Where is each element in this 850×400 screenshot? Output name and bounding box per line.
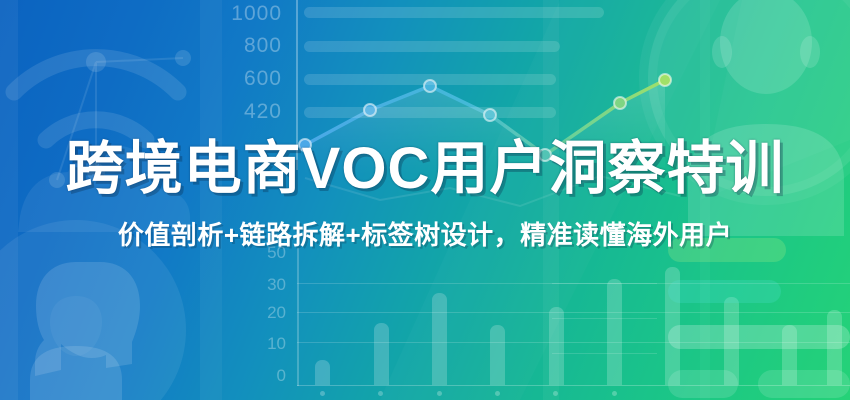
pill-item [668,325,850,349]
bar-chart-gridline [297,342,850,343]
top-chart-tick-600: 600 [212,67,282,91]
bar-chart-bar [374,323,389,385]
bar-chart-baseline [297,385,850,386]
bar-chart-tick-10: 10 [226,334,286,354]
bar-chart-y-axis [297,248,299,386]
banner-headline: 跨境电商VOC用户洞察特训 [0,138,850,201]
bar-chart-tick-30: 30 [226,275,286,295]
mini-chart-gridline [552,283,657,284]
top-chart-rail [304,7,604,18]
bar-chart-tick-20: 20 [226,303,286,323]
bar-chart-bar [607,279,622,385]
bar-chart-x-dot [612,391,617,396]
user-avatar-female-icon [30,262,140,400]
top-chart-rail [304,41,560,52]
wifi-signal-icon [14,58,178,140]
bar-chart-bar [827,310,842,385]
bar-chart-gridline [297,312,850,313]
bar-chart-bar [549,307,564,385]
promo-banner: 1000 800 600 420 [0,0,850,400]
bar-chart-tick-0: 0 [226,366,286,386]
bar-chart-bar [665,267,680,385]
mini-chart-gridline [552,318,657,319]
bar-chart-bar [782,325,797,385]
bar-chart-x-dot [320,391,325,396]
bar-chart-x-dot [495,391,500,396]
top-chart-rail [304,74,556,85]
banner-text-block: 跨境电商VOC用户洞察特训 价值剖析+链路拆解+标签树设计，精准读懂海外用户 [0,138,850,252]
pill-item [668,370,738,398]
top-chart-tick-800: 800 [212,34,282,58]
banner-subline: 价值剖析+链路拆解+标签树设计，精准读懂海外用户 [0,215,850,252]
bar-chart-x-dot [553,391,558,396]
bar-chart-plot-area [297,245,850,385]
bar-chart-x-dot [378,391,383,396]
bar-chart-bar [432,293,447,385]
top-chart-tick-1000: 1000 [212,2,282,26]
bar-chart-x-dot [437,391,442,396]
top-chart-tick-420: 420 [212,100,282,124]
bar-chart-bar [490,325,505,385]
top-chart-rail [304,107,556,118]
bar-chart-gridline [297,283,850,284]
bar-chart-bar [315,360,330,385]
mini-chart-gridline [552,353,657,354]
bar-chart-bar [724,297,739,385]
pill-item [668,280,781,303]
pill-item [758,370,850,398]
